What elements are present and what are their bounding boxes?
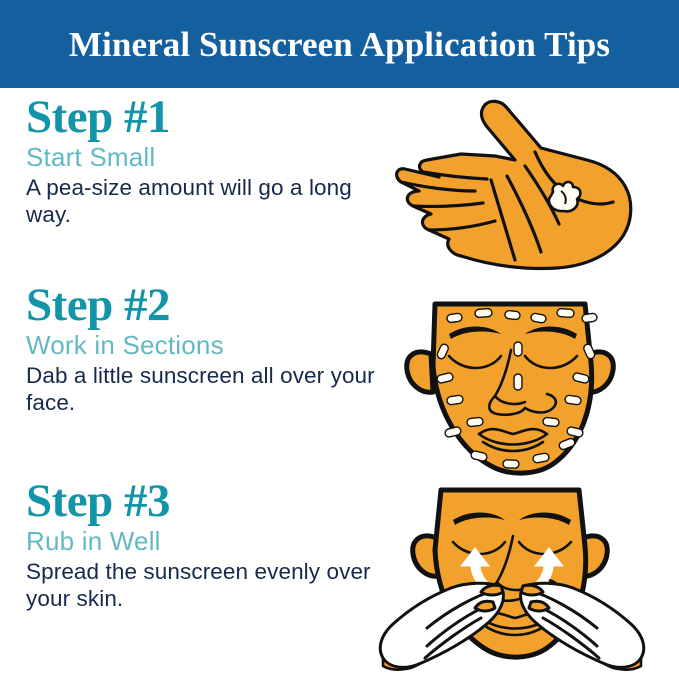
step-2-heading: Step #2 [26,282,375,330]
step-1-body: A pea-size amount will go a long way. [26,174,375,229]
step-3-subtitle: Rub in Well [26,527,375,556]
step-3-body: Spread the sunscreen evenly over your sk… [26,558,375,613]
face-with-hands-icon [375,478,679,678]
face-with-dabs-icon [375,282,679,482]
open-palm-icon [375,94,679,284]
step-2-subtitle: Work in Sections [26,331,375,360]
step-1-subtitle: Start Small [26,143,375,172]
header-banner: Mineral Sunscreen Application Tips [0,0,679,88]
step-3-illustration [375,478,679,678]
step-row-2: Step #2 Work in Sections Dab a little su… [0,282,679,482]
steps-container: Step #1 Start Small A pea-size amount wi… [0,88,679,679]
page-title: Mineral Sunscreen Application Tips [69,27,610,62]
step-1-text: Step #1 Start Small A pea-size amount wi… [0,94,375,229]
step-3-text: Step #3 Rub in Well Spread the sunscreen… [0,478,375,613]
step-2-text: Step #2 Work in Sections Dab a little su… [0,282,375,417]
step-row-1: Step #1 Start Small A pea-size amount wi… [0,94,679,284]
step-row-3: Step #3 Rub in Well Spread the sunscreen… [0,478,679,678]
step-2-body: Dab a little sunscreen all over your fac… [26,362,375,417]
step-1-heading: Step #1 [26,94,375,142]
step-1-illustration [375,94,679,284]
sunscreen-dollop-icon [549,182,581,211]
step-2-illustration [375,282,679,482]
step-3-heading: Step #3 [26,478,375,526]
